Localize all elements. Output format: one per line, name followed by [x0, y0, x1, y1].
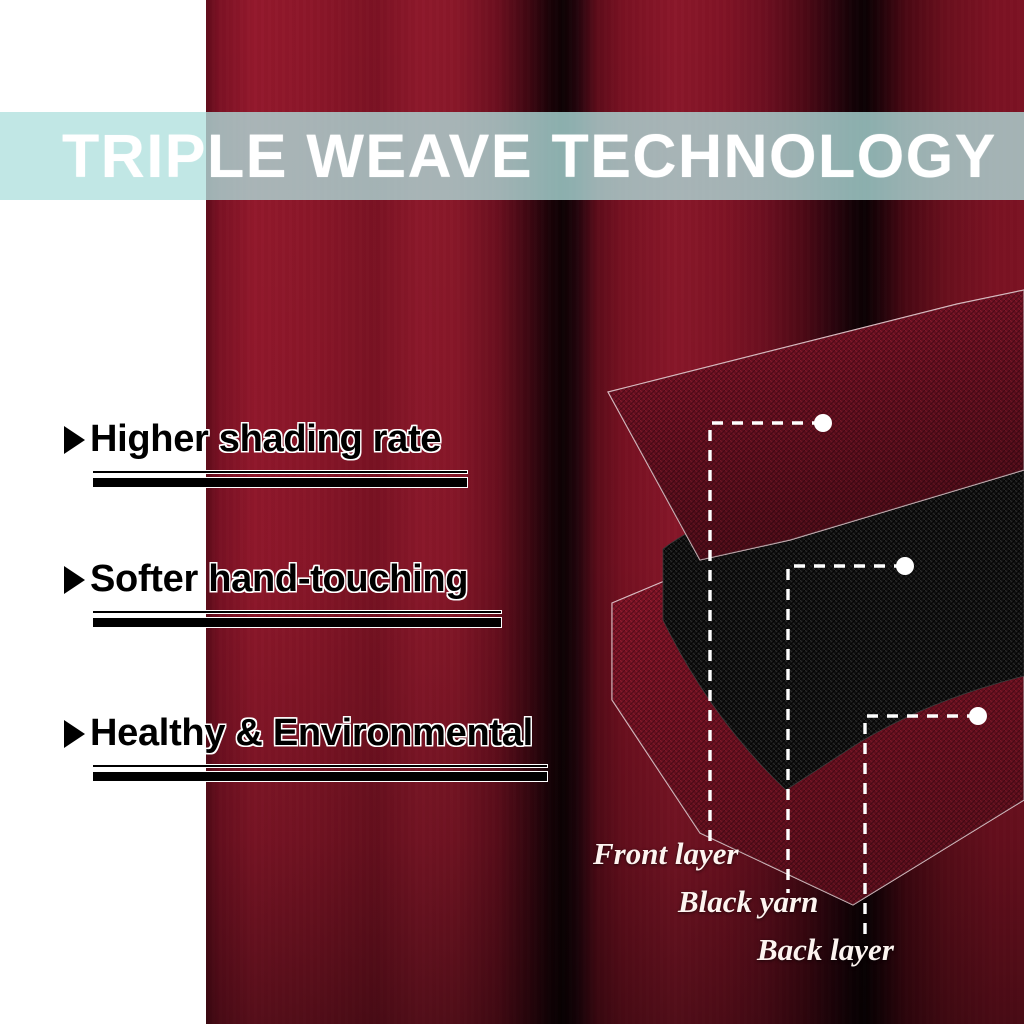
triangle-bullet-icon	[64, 426, 85, 454]
triangle-bullet-icon	[64, 720, 85, 748]
feature-label: Healthy & Environmental	[90, 712, 533, 755]
feature-underline-thick	[92, 477, 468, 488]
feature-label: Higher shading rate	[90, 418, 441, 461]
feature-label: Softer hand-touching	[90, 558, 468, 601]
triangle-bullet-icon	[64, 566, 85, 594]
feature-list: Higher shading rate Softer hand-touching…	[0, 0, 1024, 1024]
feature-item-higher-shading-rate: Higher shading rate	[64, 418, 468, 488]
feature-item-softer-hand-touching: Softer hand-touching	[64, 558, 502, 628]
feature-item-healthy-environmental: Healthy & Environmental	[64, 712, 548, 782]
feature-line: Softer hand-touching	[64, 558, 502, 601]
feature-line: Healthy & Environmental	[64, 712, 548, 755]
feature-underline-thick	[92, 617, 502, 628]
product-infographic: Front layer Black yarn Back layer TRIPLE…	[0, 0, 1024, 1024]
feature-underline-group	[92, 764, 548, 782]
feature-underline-group	[92, 610, 502, 628]
feature-underline-group	[92, 470, 468, 488]
feature-underline-thick	[92, 771, 548, 782]
feature-underline-thin	[92, 610, 502, 614]
feature-line: Higher shading rate	[64, 418, 468, 461]
feature-underline-thin	[92, 764, 548, 768]
feature-underline-thin	[92, 470, 468, 474]
